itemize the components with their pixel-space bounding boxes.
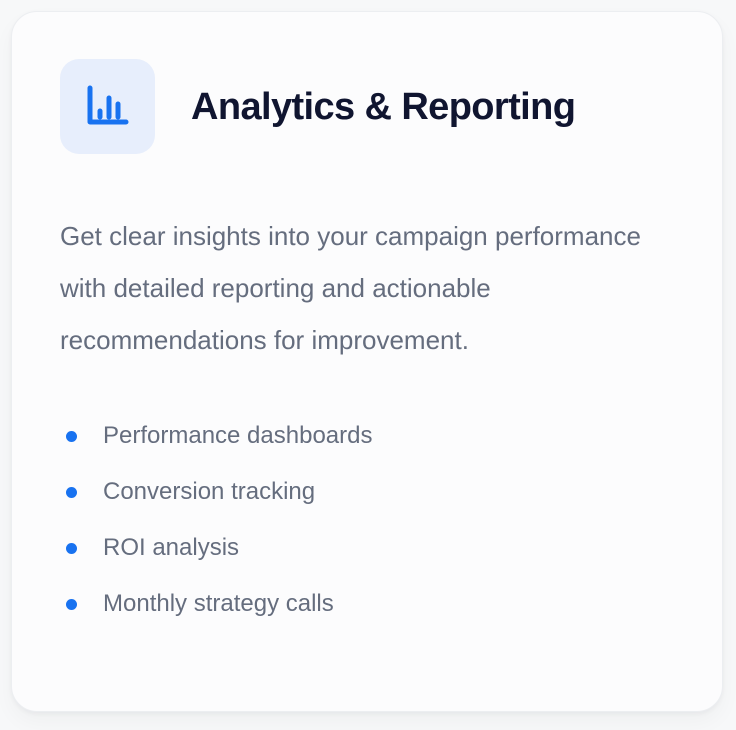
bullet-dot-icon xyxy=(66,543,77,554)
bar-chart-icon xyxy=(83,82,133,132)
feature-label: Conversion tracking xyxy=(103,480,315,504)
feature-label: ROI analysis xyxy=(103,536,239,560)
bullet-dot-icon xyxy=(66,487,77,498)
card-description: Get clear insights into your campaign pe… xyxy=(60,154,660,366)
feature-list: Performance dashboards Conversion tracki… xyxy=(60,366,722,632)
bullet-dot-icon xyxy=(66,599,77,610)
icon-tile xyxy=(60,59,155,154)
list-item: ROI analysis xyxy=(60,520,722,576)
feature-label: Monthly strategy calls xyxy=(103,592,334,616)
card-title: Analytics & Reporting xyxy=(191,88,575,126)
list-item: Conversion tracking xyxy=(60,464,722,520)
feature-label: Performance dashboards xyxy=(103,424,372,448)
list-item: Performance dashboards xyxy=(60,408,722,464)
analytics-feature-card: Analytics & Reporting Get clear insights… xyxy=(11,11,723,712)
list-item: Monthly strategy calls xyxy=(60,576,722,632)
page-root: Analytics & Reporting Get clear insights… xyxy=(0,0,736,730)
bullet-dot-icon xyxy=(66,431,77,442)
card-header: Analytics & Reporting xyxy=(60,59,722,154)
